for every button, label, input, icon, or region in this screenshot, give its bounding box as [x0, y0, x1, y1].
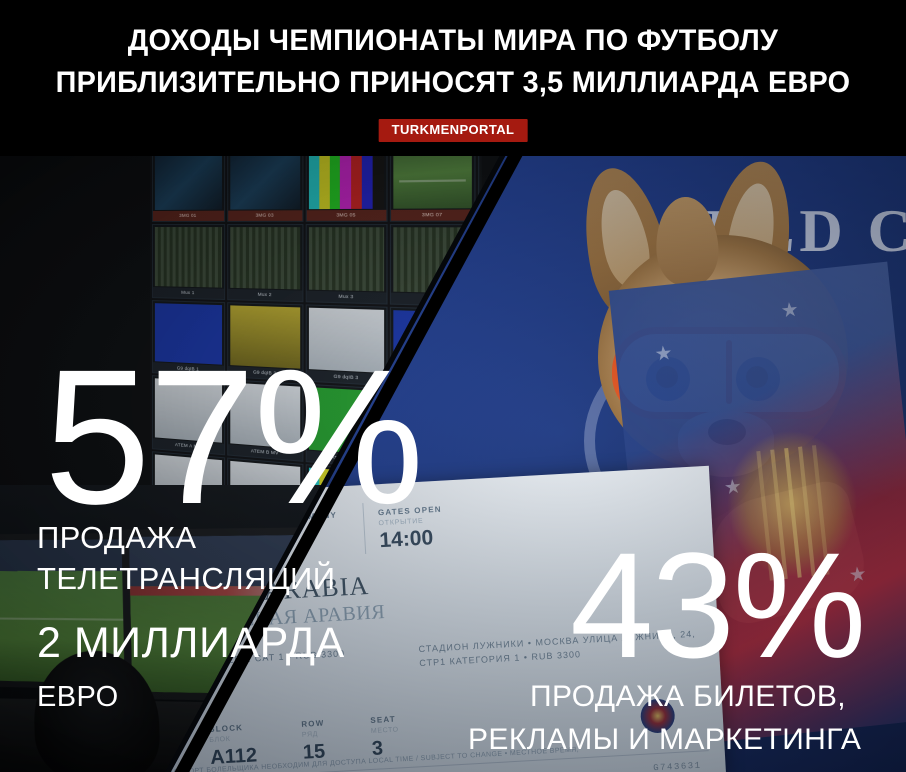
right-caption-line-2: РЕКЛАМЫ И МАРКЕТИНГА	[468, 723, 861, 757]
turkmenportal-logo-badge: TURKMENPORTAL	[379, 119, 528, 142]
photo-stage: 3MG 01 3MG 03 3MG 05 3MG 07 ADI RX 3 ADI…	[0, 155, 906, 772]
infographic-poster: ДОХОДЫ ЧЕМПИОНАТЫ МИРА ПО ФУТБОЛУ ПРИБЛИ…	[0, 0, 906, 772]
left-caption-line-1: ПРОДАЖА	[37, 520, 196, 556]
left-caption-line-2: ТЕЛЕТРАНСЛЯЦИЙ	[37, 561, 335, 597]
left-percent-value: 57%	[44, 341, 422, 533]
left-currency-label: ЕВРО	[37, 681, 119, 714]
right-percent-value: 43%	[570, 530, 864, 680]
page-title-line-1: ДОХОДЫ ЧЕМПИОНАТЫ МИРА ПО ФУТБОЛУ	[18, 24, 888, 58]
left-amount-value: 2 МИЛЛИАРДА	[37, 619, 345, 668]
page-title-line-2: ПРИБЛИЗИТЕЛЬНО ПРИНОСЯТ 3,5 МИЛЛИАРДА ЕВ…	[18, 66, 888, 100]
header-bar: ДОХОДЫ ЧЕМПИОНАТЫ МИРА ПО ФУТБОЛУ ПРИБЛИ…	[0, 0, 906, 156]
right-caption-line-1: ПРОДАЖА БИЛЕТОВ,	[530, 680, 846, 714]
